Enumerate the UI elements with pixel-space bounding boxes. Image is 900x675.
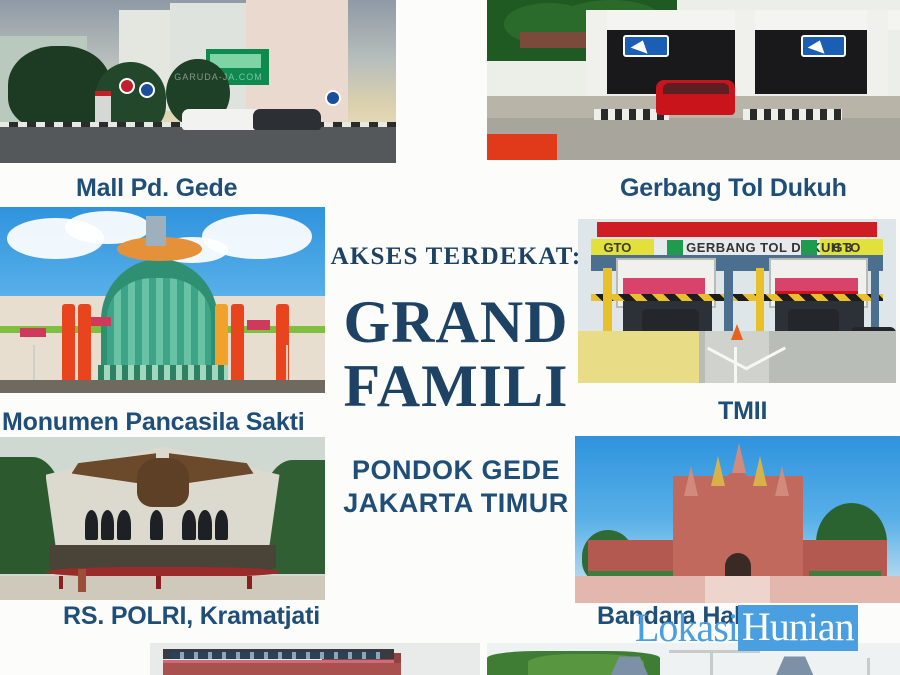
gate-name-label: GERBANG TOL DUKUH 3	[686, 240, 852, 255]
photo-tmii-castle	[575, 436, 900, 603]
caption-monumen: Monumen Pancasila Sakti	[2, 408, 304, 437]
photo-gerbang-tol-dukuh	[487, 0, 900, 160]
headline-block: AKSES TERDEKAT: GRAND FAMILI PONDOK GEDE…	[330, 244, 582, 520]
watermark-hunian-text: Hunian	[738, 605, 858, 651]
poster-canvas: GARUDA-JA.COM Mall Pd. Gede Gerbang Tol …	[0, 0, 900, 675]
caption-tmii: TMII	[718, 397, 767, 426]
photo-gto-toll-plaza: GTO GTO GERBANG TOL DUKUH 3	[578, 219, 896, 383]
subheadline-line-1: PONDOK GEDE	[330, 454, 582, 487]
caption-tol: Gerbang Tol Dukuh	[620, 174, 847, 203]
caption-polri: RS. POLRI, Kramatjati	[63, 602, 320, 631]
photo-mall-pondok-gede: GARUDA-JA.COM	[0, 0, 396, 163]
watermark-lokasihunian: LokasiHunian	[635, 608, 858, 648]
headline-line-1: GRAND	[330, 291, 582, 355]
photo-monumen-pancasila-sakti	[0, 437, 325, 600]
headline-kicker: AKSES TERDEKAT:	[330, 244, 582, 269]
photo-embedded-watermark: GARUDA-JA.COM	[174, 72, 263, 82]
photo-colorful-mall	[0, 207, 325, 393]
caption-mall: Mall Pd. Gede	[76, 174, 237, 203]
toll-banner	[597, 222, 877, 237]
subheadline-line-2: JAKARTA TIMUR	[330, 487, 582, 520]
photo-bottom-left-partial	[150, 643, 480, 675]
watermark-lokasi-text: Lokasi	[635, 608, 738, 648]
gto-label-left: GTO	[603, 240, 631, 255]
headline-line-2: FAMILI	[330, 355, 582, 419]
